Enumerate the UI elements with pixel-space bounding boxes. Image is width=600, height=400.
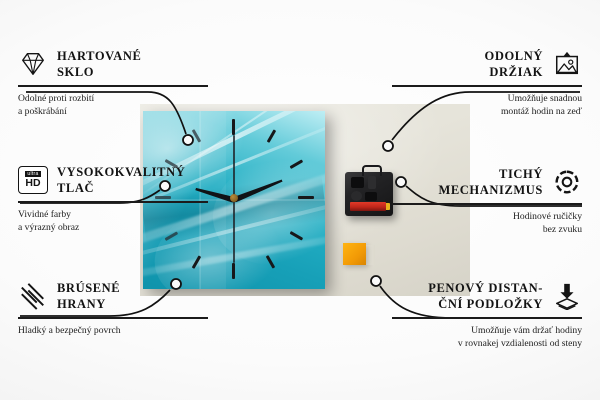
divider [18,85,208,87]
mechanism-detail [351,191,362,201]
hour-tick [266,255,275,268]
infographic-canvas: HARTOVANÉ SKLO Odolné proti rozbití a po… [0,0,600,400]
hanger-loop-icon [362,165,382,176]
mechanism-detail [365,192,377,201]
feature-high-quality-print: ultra HD VYSOKOKVALITNÝ TLAČ Vividné far… [18,164,208,235]
diagonal-lines-icon [18,282,48,310]
feature-description: Vividné farby a výrazný obraz [18,208,208,235]
feature-header: ODOLNÝ DRŽIAK [392,48,582,80]
feature-durable-holder: ODOLNÝ DRŽIAK Umožňuje snadnou montáž ho… [392,48,582,119]
second-hand [233,199,235,263]
hands-center-pin [230,194,238,202]
feature-header: TICHÝ MECHANIZMUS [392,166,582,198]
hour-tick [192,129,201,142]
divider [18,317,208,319]
divider [392,85,582,87]
diamond-icon [18,50,48,78]
ultra-hd-badge-icon: ultra HD [18,166,48,194]
mechanism-detail [351,177,364,188]
divider [18,201,208,203]
feature-header: PENOVÝ DISTAN- ČNÍ PODLOŽKY [392,280,582,312]
feature-title: TICHÝ MECHANIZMUS [392,166,543,198]
feature-header: ultra HD VYSOKOKVALITNÝ TLAČ [18,164,208,196]
feature-polished-edges: BRÚSENÉ HRANY Hladký a bezpečný povrch [18,280,208,337]
feature-description: Umožňuje snadnou montáž hodin na zeď [392,92,582,119]
hour-tick [290,159,303,168]
battery-terminal [386,203,390,210]
feature-header: BRÚSENÉ HRANY [18,280,208,312]
foam-spacer-pad [343,243,366,265]
feature-title: HARTOVANÉ SKLO [57,48,141,80]
feature-foam-spacers: PENOVÝ DISTAN- ČNÍ PODLOŽKY Umožňuje vám… [392,280,582,351]
minute-hand [233,178,283,203]
gear-icon [552,168,582,196]
feature-description: Odolné proti rozbití a poškrábání [18,92,208,119]
feature-title: PENOVÝ DISTAN- ČNÍ PODLOŽKY [392,280,543,312]
battery [350,202,386,211]
feature-tempered-glass: HARTOVANÉ SKLO Odolné proti rozbití a po… [18,48,208,119]
feature-title: VYSOKOKVALITNÝ TLAČ [57,164,185,196]
hour-tick [298,196,314,199]
hour-tick [192,255,201,268]
stacked-layers-down-arrow-icon [552,282,582,310]
feature-header: HARTOVANÉ SKLO [18,48,208,80]
hour-tick [232,263,235,279]
hour-tick [290,231,303,240]
mechanism-detail [368,176,376,189]
hour-tick [267,129,276,142]
feature-description: Hodinové ručičky bez zvuku [392,210,582,237]
feature-description: Hladký a bezpečný povrch [18,324,208,338]
feature-description: Umožňuje vám držať hodiny v rovnakej vzd… [392,324,582,351]
feature-title: ODOLNÝ DRŽIAK [392,48,543,80]
picture-hanger-icon [552,50,582,78]
foam-pad-shadow [366,245,375,265]
divider [392,203,582,205]
minute-hand-shadow [233,135,235,197]
divider [392,317,582,319]
feature-title: BRÚSENÉ HRANY [57,280,120,312]
clock-mechanism [345,172,393,216]
hour-tick [232,119,235,135]
feature-silent-mechanism: TICHÝ MECHANIZMUS Hodinové ručičky bez z… [392,166,582,237]
